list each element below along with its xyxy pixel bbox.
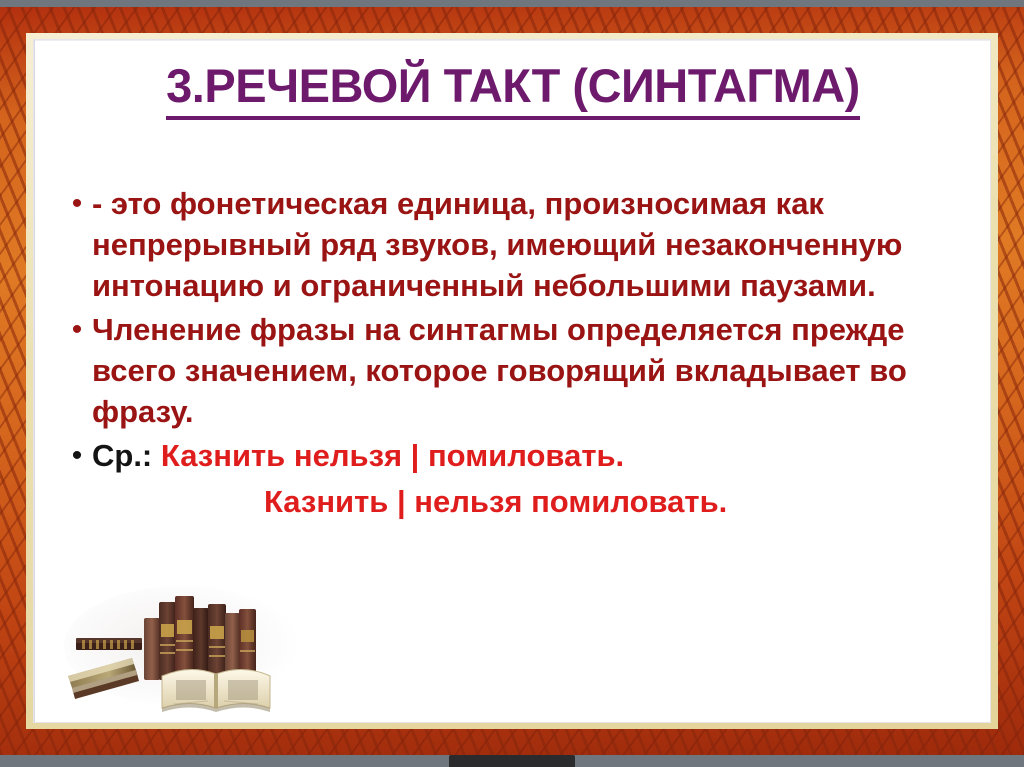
- bullet-marker-icon: •: [62, 183, 92, 225]
- bullet-marker-icon: •: [62, 435, 92, 477]
- list-item-label: Членение фразы на синтагмы определяется …: [92, 309, 967, 432]
- example-item: • Ср.: Казнить нельзя | помиловать.: [62, 435, 967, 477]
- screen-bar-top: [0, 0, 1024, 7]
- example-phrase-two: Казнить | нельзя помиловать.: [62, 481, 967, 522]
- slide-title: 3.РЕЧЕВОЙ ТАКТ (СИНТАГМА): [34, 58, 991, 120]
- books-illustration-icon: [58, 580, 333, 714]
- list-item: • - это фонетическая единица, произносим…: [62, 183, 967, 306]
- example-line-one: Ср.: Казнить нельзя | помиловать.: [92, 435, 967, 476]
- presentation-slide: 3.РЕЧЕВОЙ ТАКТ (СИНТАГМА) • - это фонети…: [0, 0, 1024, 767]
- screen-bottom-nub: [449, 755, 575, 767]
- list-item-label: - это фонетическая единица, произносимая…: [92, 183, 967, 306]
- slide-content-panel: 3.РЕЧЕВОЙ ТАКТ (СИНТАГМА) • - это фонети…: [33, 39, 991, 723]
- example-label: Ср.:: [92, 438, 152, 473]
- list-item: • Членение фразы на синтагмы определяетс…: [62, 309, 967, 432]
- example-phrase-one: Казнить нельзя | помиловать.: [161, 438, 624, 473]
- bullet-marker-icon: •: [62, 309, 92, 351]
- bullet-list: • - это фонетическая единица, произносим…: [62, 183, 967, 522]
- slide-title-text: 3.РЕЧЕВОЙ ТАКТ (СИНТАГМА): [166, 58, 860, 120]
